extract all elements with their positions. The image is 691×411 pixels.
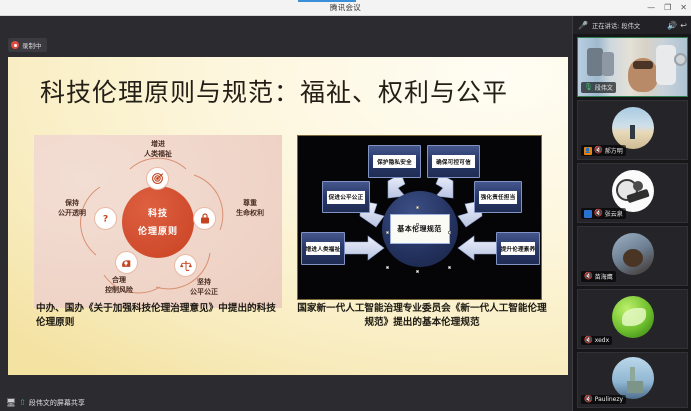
selection-handle[interactable] (448, 231, 451, 234)
mic-off-icon: 🔇 (584, 273, 593, 280)
mic-off-icon: 🔇 (594, 210, 603, 217)
diagram-center-circle: 基本伦理规范 (382, 191, 458, 267)
active-speaker-label: 正在讲话: 段伟文 (592, 21, 663, 30)
window-title: 腾讯会议 (330, 2, 361, 13)
lock-icon (193, 207, 216, 230)
participant-name-bar-3: 🔇 苗海鹰 (581, 271, 616, 282)
maximize-icon[interactable]: ❐ (664, 4, 671, 12)
cohost-badge-icon: 👤 (584, 210, 592, 218)
window-controls[interactable]: — ❐ ✕ (647, 0, 687, 16)
participant-tile-2[interactable]: 👤 🔇 张云泉 (577, 163, 688, 223)
diagram-box-0: 保护隐私安全 (368, 145, 421, 178)
wheel-label-3-line1: 合理 (88, 275, 150, 285)
minimize-icon[interactable]: — (647, 4, 655, 12)
rail-controls[interactable]: 🔊 ↩ (667, 21, 687, 30)
wheel-label-1-line2: 生命权利 (222, 208, 278, 218)
avatar (612, 170, 654, 212)
recording-icon (11, 41, 19, 49)
close-icon[interactable]: ✕ (680, 4, 687, 12)
volume-icon[interactable]: 🔊 (667, 21, 677, 30)
recording-badge[interactable]: 录制中 (8, 38, 47, 52)
avatar (612, 233, 654, 275)
selection-handle[interactable] (386, 231, 389, 234)
ethics-wheel-diagram: 科技 伦理原则 增进 人类福祉 (34, 135, 282, 308)
participant-name-5: Paulinezy (595, 396, 623, 403)
screen-share-label: 段伟文的屏幕共享 (29, 398, 85, 408)
diagram-box-0-label: 保护隐私安全 (373, 155, 416, 168)
meeting-left-strip (0, 57, 8, 375)
collapse-arrow-icon[interactable]: ↩ (680, 21, 687, 30)
wheel-label-2: 坚持 公平公正 (174, 277, 234, 297)
diagram-box-4-label: 增进人类福祉 (306, 242, 340, 255)
wheel-label-4: 保持 公开透明 (44, 198, 100, 218)
ai-norms-diagram: 基本伦理规范 保护隐私安全 确保可控可信 促进公平公正 强化责任担当 (297, 135, 542, 300)
participant-name-bar-2: 👤 🔇 张云泉 (581, 208, 626, 219)
person-risk-icon (115, 251, 138, 274)
wheel-label-3-line2: 控制风险 (88, 285, 150, 295)
mic-off-icon: 🔇 (584, 396, 593, 403)
mic-on-icon: 🎙 (584, 84, 593, 91)
wheel-center: 科技 伦理原则 (122, 186, 194, 258)
diagram-box-3-label: 强化责任担当 (479, 191, 517, 204)
avatar (612, 107, 654, 149)
participants-rail: 🎤 正在讲话: 段伟文 🔊 ↩ 🎙 段伟文 (572, 16, 691, 411)
window-titlebar: 腾讯会议 — ❐ ✕ (0, 0, 691, 16)
diagram-box-3: 强化责任担当 (474, 181, 522, 213)
wheel-label-0-line1: 增进 (129, 139, 187, 149)
diagram-box-4: 增进人类福祉 (301, 232, 345, 265)
mic-off-icon: 🔇 (594, 147, 603, 154)
participant-name-3: 苗海鹰 (595, 272, 613, 281)
upload-arrow-icon: ⇧ (19, 398, 26, 407)
wheel-center-line2: 伦理原则 (138, 224, 178, 237)
participant-name-bar-0: 🎙 段伟文 (581, 82, 616, 93)
selection-handle[interactable] (416, 223, 419, 226)
selection-handle[interactable] (416, 206, 419, 209)
titlebar-accent (298, 0, 356, 2)
wheel-label-0: 增进 人类福祉 (129, 139, 187, 159)
microphone-icon: 🎤 (578, 21, 588, 30)
screen-share-bar: 🖥 ⇧ 段伟文的屏幕共享 (0, 394, 572, 411)
participant-name-0: 段伟文 (595, 83, 613, 92)
diagram-center-label: 基本伦理规范 (390, 214, 450, 244)
selection-handle[interactable] (386, 266, 389, 269)
caption-left: 中办、国办《关于加强科技伦理治理意见》中提出的科技伦理原则 (36, 302, 284, 330)
wheel-label-4-line1: 保持 (44, 198, 100, 208)
wheel-label-3: 合理 控制风险 (88, 275, 150, 295)
screen-share-icon: 🖥 (6, 398, 16, 407)
selection-handle[interactable] (416, 270, 419, 273)
selection-handle[interactable] (448, 266, 451, 269)
diagram-box-1: 确保可控可信 (427, 145, 480, 178)
participant-tile-5[interactable]: 🔇 Paulinezy (577, 352, 688, 408)
caption-right: 国家新一代人工智能治理专业委员会《新一代人工智能伦理规范》提出的基本伦理规范 (294, 302, 550, 330)
diagram-box-5: 提升伦理素养 (496, 232, 540, 265)
wheel-label-2-line1: 坚持 (174, 277, 234, 287)
participant-name-bar-5: 🔇 Paulinezy (581, 395, 626, 404)
wheel-label-2-line2: 公平公正 (174, 287, 234, 297)
host-badge-icon: 👤 (584, 147, 592, 155)
diagram-box-5-label: 提升伦理素养 (501, 242, 535, 255)
participant-tile-4[interactable]: 🔇 xedx (577, 289, 688, 349)
svg-text:?: ? (103, 214, 108, 225)
mic-off-icon: 🔇 (584, 337, 593, 344)
diagram-box-1-label: 确保可控可信 (432, 155, 475, 168)
wheel-label-1: 尊重 生命权利 (222, 198, 278, 218)
diagram-box-2-label: 促进公平公正 (327, 191, 365, 204)
target-icon (146, 167, 169, 190)
avatar (612, 357, 654, 399)
diagram-box-2: 促进公平公正 (322, 181, 370, 213)
scales-icon (174, 254, 197, 277)
participant-name-1: 郝方明 (605, 146, 623, 155)
wheel-center-line1: 科技 (148, 206, 168, 219)
participant-name-bar-4: 🔇 xedx (581, 336, 612, 345)
participant-tile-1[interactable]: 👤 🔇 郝方明 (577, 100, 688, 160)
avatar (612, 296, 654, 338)
active-speaker-bar: 🎤 正在讲话: 段伟文 🔊 ↩ (573, 16, 691, 34)
participant-name-bar-1: 👤 🔇 郝方明 (581, 145, 626, 156)
wheel-label-0-line2: 人类福祉 (129, 149, 187, 159)
participant-name-4: xedx (595, 337, 609, 344)
participant-name-2: 张云泉 (605, 209, 623, 218)
shared-slide: 科技伦理原则与规范：福祉、权利与公平 科技 伦理原则 (8, 57, 568, 375)
participant-tile-0[interactable]: 🎙 段伟文 (577, 37, 688, 97)
app-root: 腾讯会议 — ❐ ✕ 录制中 科技伦理原则与规范：福祉、权利与公平 (0, 0, 691, 411)
wheel-label-1-line1: 尊重 (222, 198, 278, 208)
recording-label: 录制中 (22, 40, 42, 50)
meeting-top-strip (0, 16, 572, 60)
slide-title: 科技伦理原则与规范：福祉、权利与公平 (40, 73, 508, 109)
participant-tile-3[interactable]: 🔇 苗海鹰 (577, 226, 688, 286)
wheel-label-4-line2: 公开透明 (44, 208, 100, 218)
